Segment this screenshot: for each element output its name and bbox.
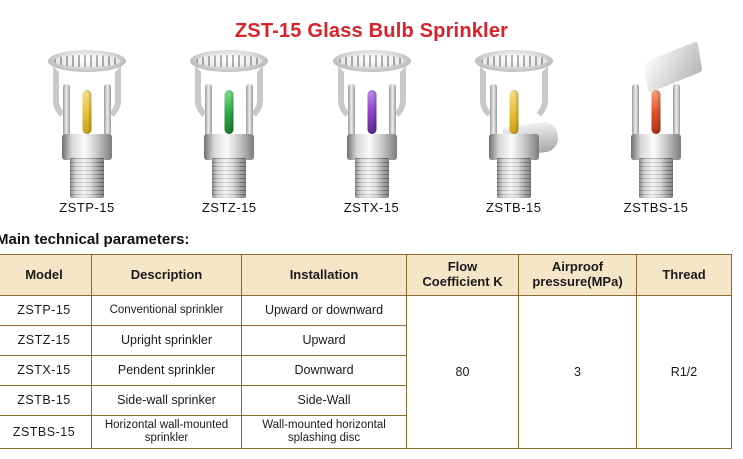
sprinkler-zstp-15-image (18, 43, 156, 198)
parameters-heading: Main technical parameters: (0, 223, 743, 254)
column-header-model: Model (0, 255, 92, 296)
cell-flow-coefficient: 80 (407, 296, 519, 449)
frame-left-icon (632, 84, 639, 136)
sprinkler-zstbs-15-image (587, 43, 725, 198)
hex-nut-icon (62, 134, 112, 160)
frame-left-icon (63, 84, 70, 136)
product-label: ZSTB-15 (445, 200, 583, 215)
airproof-header-line-2: pressure(MPa) (521, 275, 634, 290)
product-item: ZSTP-15 (18, 43, 156, 223)
cell-description: Horizontal wall-mounted sprinkler (92, 416, 242, 449)
frame-right-icon (104, 84, 111, 136)
cell-description: Pendent sprinkler (92, 356, 242, 386)
product-gallery: ZSTP-15 ZSTZ-15 (0, 43, 743, 223)
cell-description: Conventional sprinkler (92, 296, 242, 326)
cell-model: ZSTZ-15 (0, 326, 92, 356)
glass-bulb-icon (652, 90, 661, 134)
frame-right-icon (246, 84, 253, 136)
thread-icon (355, 158, 389, 198)
frame-left-icon (490, 84, 497, 136)
cell-description: Side-wall sprinker (92, 386, 242, 416)
table-row: ZSTP-15 Conventional sprinkler Upward or… (0, 296, 732, 326)
cell-model: ZSTX-15 (0, 356, 92, 386)
cell-installation: Upward (242, 326, 407, 356)
cell-installation: Side-Wall (242, 386, 407, 416)
column-header-installation: Installation (242, 255, 407, 296)
sprinkler-zstz-15-image (160, 43, 298, 198)
airproof-header-line-1: Airproof (521, 260, 634, 275)
product-item: ZSTB-15 (445, 43, 583, 223)
flow-header-line-1: Flow (409, 260, 516, 275)
frame-right-icon (673, 84, 680, 136)
column-header-flow-coefficient: Flow Coefficient K (407, 255, 519, 296)
thread-icon (639, 158, 673, 198)
cell-installation: Wall-mounted horizontal splashing disc (242, 416, 407, 449)
cell-description: Upright sprinkler (92, 326, 242, 356)
cell-thread: R1/2 (637, 296, 732, 449)
hex-nut-icon (489, 134, 539, 160)
technical-parameters-table: Model Description Installation Flow Coef… (0, 254, 732, 449)
glass-bulb-icon (509, 90, 518, 134)
glass-bulb-icon (225, 90, 234, 134)
frame-right-icon (389, 84, 396, 136)
sprinkler-zstx-15-image (303, 43, 441, 198)
cell-installation: Upward or downward (242, 296, 407, 326)
table-header-row: Model Description Installation Flow Coef… (0, 255, 732, 296)
cell-installation: Downward (242, 356, 407, 386)
glass-bulb-icon (367, 90, 376, 134)
cell-model: ZSTB-15 (0, 386, 92, 416)
page-title: ZST-15 Glass Bulb Sprinkler (0, 0, 743, 43)
frame-left-icon (205, 84, 212, 136)
hex-nut-icon (347, 134, 397, 160)
thread-icon (497, 158, 531, 198)
column-header-airproof-pressure: Airproof pressure(MPa) (519, 255, 637, 296)
flow-header-line-2: Coefficient K (409, 275, 516, 290)
product-item: ZSTBS-15 (587, 43, 725, 223)
thread-icon (70, 158, 104, 198)
hex-nut-icon (631, 134, 681, 160)
page-root: ZST-15 Glass Bulb Sprinkler ZSTP-15 (0, 0, 743, 459)
product-item: ZSTZ-15 (160, 43, 298, 223)
product-item: ZSTX-15 (303, 43, 441, 223)
frame-left-icon (348, 84, 355, 136)
product-label: ZSTX-15 (303, 200, 441, 215)
hex-nut-icon (204, 134, 254, 160)
product-label: ZSTBS-15 (587, 200, 725, 215)
thread-icon (212, 158, 246, 198)
cell-airproof-pressure: 3 (519, 296, 637, 449)
column-header-thread: Thread (637, 255, 732, 296)
cell-model: ZSTP-15 (0, 296, 92, 326)
sprinkler-zstb-15-image (445, 43, 583, 198)
product-label: ZSTP-15 (18, 200, 156, 215)
column-header-description: Description (92, 255, 242, 296)
glass-bulb-icon (83, 90, 92, 134)
cell-model: ZSTBS-15 (0, 416, 92, 449)
product-label: ZSTZ-15 (160, 200, 298, 215)
